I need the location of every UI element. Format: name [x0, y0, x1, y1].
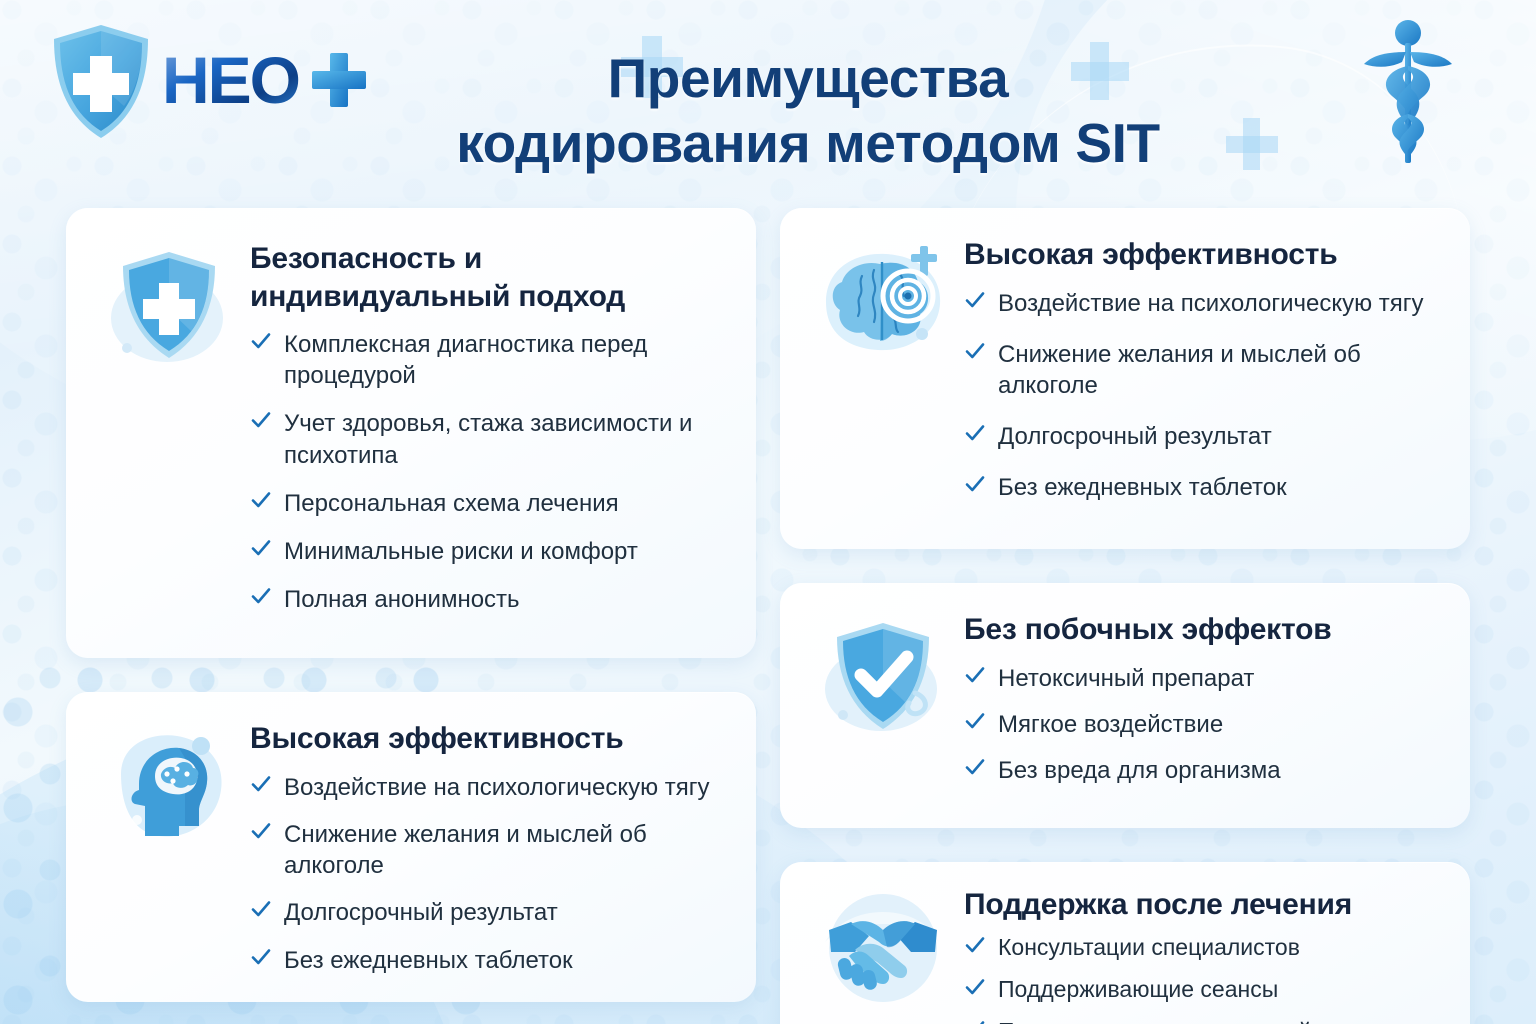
check-icon [964, 664, 986, 686]
card-safety[interactable]: Безопасность и индивидуальный подход Ком… [66, 208, 756, 658]
check-icon [250, 898, 272, 920]
card-title: Поддержка после лечения [964, 886, 1440, 924]
list-item-text: Долгосрочный результат [998, 423, 1272, 450]
head-brain-icon [103, 724, 235, 852]
check-icon [964, 289, 986, 311]
list-item: Долгосрочный результат [250, 897, 726, 928]
card-body: Без побочных эффектов Нетоксичный препар… [964, 609, 1440, 801]
check-icon [964, 1018, 986, 1024]
bullet-list: Комплексная диагностика перед процедурой… [250, 329, 726, 615]
list-item-text: Консультации специалистов [998, 934, 1300, 960]
list-item: Минимальные риски и комфорт [250, 536, 726, 567]
list-item: Помощь в адаптации к новой жизни [964, 1017, 1440, 1024]
list-item: Персональная схема лечения [250, 488, 726, 519]
bullet-list: Воздействие на психологическую тягу Сниж… [250, 772, 726, 976]
list-item-text: Полная анонимность [284, 586, 520, 613]
shield-cross-icon [105, 244, 233, 372]
card-body: Высокая эффективность Воздействие на пси… [250, 718, 726, 975]
list-item-text: Помощь в адаптации к новой жизни [998, 1018, 1382, 1024]
page-title-line-1: Преимущества [300, 46, 1316, 111]
card-title: Без побочных эффектов [964, 611, 1440, 649]
list-item: Поддерживающие сеансы [964, 975, 1440, 1005]
handshake-icon [821, 890, 945, 1006]
list-item: Комплексная диагностика перед процедурой [250, 329, 726, 391]
list-item: Полная анонимность [250, 584, 726, 615]
check-icon [964, 756, 986, 778]
list-item-text: Без ежедневных таблеток [998, 474, 1287, 501]
list-item: Снижение желания и мыслей об алкоголе [964, 339, 1440, 401]
list-item: Нетоксичный препарат [964, 663, 1440, 694]
check-icon [250, 409, 272, 431]
bullet-list: Консультации специалистов Поддерживающие… [964, 933, 1440, 1024]
card-body: Высокая эффективность Воздействие на пси… [964, 234, 1440, 523]
card-title: Безопасность и индивидуальный подход [250, 240, 726, 315]
list-item: Долгосрочный результат [964, 421, 1440, 452]
caduceus-icon [1362, 18, 1454, 168]
list-item-text: Персональная схема лечения [284, 490, 619, 517]
shield-check-icon [819, 615, 947, 743]
brain-target-icon [816, 240, 950, 366]
list-item: Без ежедневных таблеток [964, 472, 1440, 503]
card-support[interactable]: Поддержка после лечения Консультации спе… [780, 862, 1470, 1024]
check-icon [964, 934, 986, 956]
list-item-text: Воздействие на психологическую тягу [284, 774, 710, 801]
list-item: Консультации специалистов [964, 933, 1440, 963]
list-item-text: Мягкое воздействие [998, 711, 1223, 738]
list-item: Снижение желания и мыслей об алкоголе [250, 819, 726, 881]
cards-grid: Безопасность и индивидуальный подход Ком… [0, 208, 1536, 1024]
check-icon [964, 422, 986, 444]
list-item-text: Поддерживающие сеансы [998, 976, 1278, 1002]
list-item-text: Снижение желания и мыслей об алкоголе [284, 821, 647, 879]
list-item-text: Минимальные риски и комфорт [284, 538, 638, 565]
list-item-text: Снижение желания и мыслей об алкоголе [998, 341, 1361, 399]
poster-header: НЕО Преимущества кодирования методом SIT [0, 0, 1536, 208]
check-icon [250, 585, 272, 607]
list-item-text: Долгосрочный результат [284, 899, 558, 926]
infographic-poster: НЕО Преимущества кодирования методом SIT [0, 0, 1536, 1024]
list-item: Мягкое воздействие [964, 709, 1440, 740]
check-icon [964, 340, 986, 362]
page-title: Преимущества кодирования методом SIT [300, 46, 1316, 176]
bullet-list: Воздействие на психологическую тягу Сниж… [964, 288, 1440, 504]
card-body: Поддержка после лечения Консультации спе… [964, 884, 1440, 1024]
check-icon [964, 976, 986, 998]
list-item: Воздействие на психологическую тягу [964, 288, 1440, 319]
list-item-text: Нетоксичный препарат [998, 665, 1254, 692]
card-icon-wrapper [808, 884, 958, 1006]
list-item: Без вреда для организма [964, 755, 1440, 786]
card-icon-wrapper [94, 718, 244, 852]
card-effectiveness-left[interactable]: Высокая эффективность Воздействие на пси… [66, 692, 756, 1001]
check-icon [964, 473, 986, 495]
page-title-line-2: кодирования методом SIT [300, 111, 1316, 176]
bullet-list: Нетоксичный препарат Мягкое воздействие [964, 663, 1440, 787]
card-title: Высокая эффективность [250, 720, 726, 758]
check-icon [250, 820, 272, 842]
check-icon [250, 773, 272, 795]
list-item-text: Без ежедневных таблеток [284, 947, 573, 974]
list-item-text: Комплексная диагностика перед процедурой [284, 331, 647, 389]
list-item-text: Воздействие на психологическую тягу [998, 290, 1424, 317]
card-icon-wrapper [808, 609, 958, 743]
left-column: Безопасность и индивидуальный подход Ком… [66, 208, 756, 1024]
list-item: Воздействие на психологическую тягу [250, 772, 726, 803]
svg-text:НЕО: НЕО [162, 43, 299, 117]
card-icon-wrapper [808, 234, 958, 366]
card-body: Безопасность и индивидуальный подход Ком… [250, 238, 726, 632]
list-item: Без ежедневных таблеток [250, 945, 726, 976]
right-column: Высокая эффективность Воздействие на пси… [780, 208, 1470, 1024]
shield-cross-icon [48, 22, 154, 142]
list-item-text: Без вреда для организма [998, 757, 1281, 784]
card-no-side-effects[interactable]: Без побочных эффектов Нетоксичный препар… [780, 583, 1470, 827]
card-icon-wrapper [94, 238, 244, 372]
card-title: Высокая эффективность [964, 236, 1440, 274]
check-icon [250, 489, 272, 511]
list-item: Учет здоровья, стажа зависимости и психо… [250, 408, 726, 470]
card-effectiveness-right[interactable]: Высокая эффективность Воздействие на пси… [780, 208, 1470, 549]
check-icon [250, 330, 272, 352]
check-icon [964, 710, 986, 732]
check-icon [250, 946, 272, 968]
check-icon [250, 537, 272, 559]
list-item-text: Учет здоровья, стажа зависимости и психо… [284, 410, 692, 468]
